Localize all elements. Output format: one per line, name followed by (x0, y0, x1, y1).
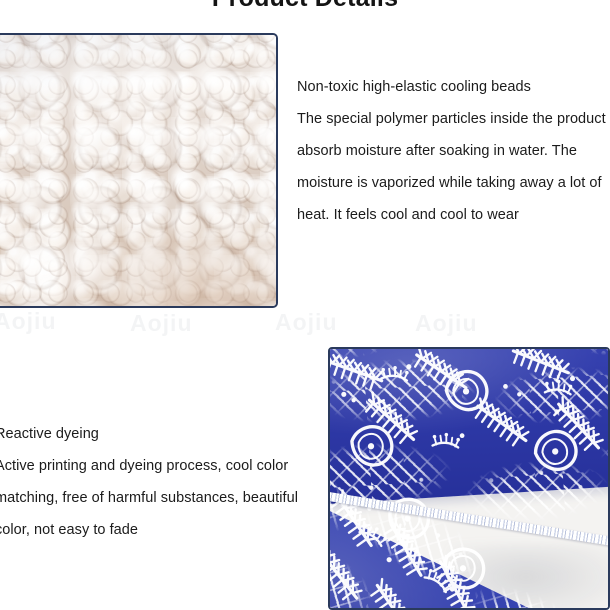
cooling-beads-body: The special polymer particles inside the… (297, 103, 610, 231)
watermark: Aojiu (130, 310, 193, 337)
page-title: Product Details (0, 0, 610, 13)
reactive-dyeing-text: Reactive dyeing Active printing and dyei… (0, 418, 300, 546)
watermark: Aojiu (415, 310, 478, 337)
cooling-beads-text: Non-toxic high-elastic cooling beads The… (297, 71, 610, 231)
fabric-motif-overlay (330, 349, 608, 608)
reactive-dyeing-heading: Reactive dyeing (0, 418, 300, 450)
watermark-row: Aojiu Aojiu Aojiu Aojiu (0, 306, 610, 340)
cooling-beads-heading: Non-toxic high-elastic cooling beads (297, 71, 610, 103)
cooling-beads-photo[interactable] (0, 33, 278, 308)
watermark: Aojiu (275, 309, 338, 336)
beads-image-canvas (0, 35, 276, 306)
blue-printed-scarf-photo[interactable] (328, 347, 610, 610)
watermark: Aojiu (0, 308, 57, 335)
bead-sheen-overlay (0, 33, 278, 308)
reactive-dyeing-body: Active printing and dyeing process, cool… (0, 450, 300, 546)
fabric-image-canvas (330, 349, 608, 608)
